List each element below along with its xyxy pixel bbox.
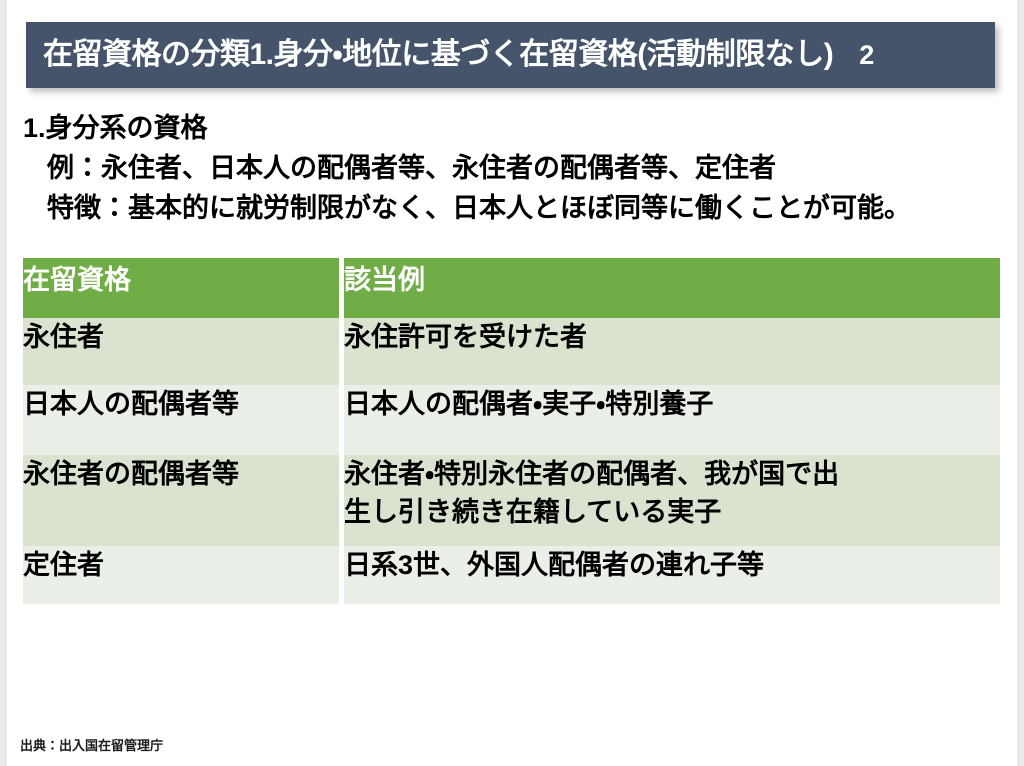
body-example-line: 例：永住者、日本人の配偶者等、永住者の配偶者等、定住者 — [21, 148, 1011, 188]
table-row: 日本人の配偶者等 日本人の配偶者・実子・特別養子 — [23, 385, 1000, 455]
table-header-row: 在留資格 該当例 — [23, 258, 1000, 318]
cell-qualification: 永住者 — [23, 318, 339, 385]
page-edge-left — [0, 0, 7, 766]
cell-examples-line: 永住許可を受けた者 — [344, 318, 1000, 356]
page-title: 在留資格の分類1.身分・地位に基づく在留資格(活動制限なし) — [43, 40, 833, 70]
slide-title-bar: 在留資格の分類1.身分・地位に基づく在留資格(活動制限なし) 2 — [26, 22, 995, 88]
cell-qualification: 永住者の配偶者等 — [23, 455, 339, 546]
body-heading: 1.身分系の資格 — [21, 108, 1011, 148]
cell-examples: 日系3世、外国人配偶者の連れ子等 — [344, 546, 1000, 604]
cell-qualification: 日本人の配偶者等 — [23, 385, 339, 455]
cell-examples-line: 生し引き続き在籍している実子 — [344, 493, 1000, 531]
body-text-block: 1.身分系の資格 例：永住者、日本人の配偶者等、永住者の配偶者等、定住者 特徴：… — [21, 108, 1011, 228]
slide-canvas: 在留資格の分類1.身分・地位に基づく在留資格(活動制限なし) 2 1.身分系の資… — [7, 0, 1017, 766]
cell-examples: 日本人の配偶者・実子・特別養子 — [344, 385, 1000, 455]
source-note: 出典：出入国在留管理庁 — [20, 735, 163, 754]
table-row: 定住者 日系3世、外国人配偶者の連れ子等 — [23, 546, 1000, 604]
body-feature-line: 特徴：基本的に就労制限がなく、日本人とほぼ同等に働くことが可能。 — [21, 188, 1011, 228]
table-header-examples: 該当例 — [344, 258, 1000, 318]
cell-examples-line: 日本人の配偶者・実子・特別養子 — [344, 385, 1000, 423]
qualification-table: 在留資格 該当例 永住者 永住許可を受けた者 日本人の配偶者等 日本人の配偶者・… — [23, 258, 1000, 604]
table-row: 永住者 永住許可を受けた者 — [23, 318, 1000, 385]
table-header-qualification: 在留資格 — [23, 258, 339, 318]
cell-qualification: 定住者 — [23, 546, 339, 604]
table-row: 永住者の配偶者等 永住者・特別永住者の配偶者、我が国で出 生し引き続き在籍してい… — [23, 455, 1000, 546]
cell-examples-line: 永住者・特別永住者の配偶者、我が国で出 — [344, 455, 1000, 493]
cell-examples: 永住許可を受けた者 — [344, 318, 1000, 385]
cell-examples: 永住者・特別永住者の配偶者、我が国で出 生し引き続き在籍している実子 — [344, 455, 1000, 546]
cell-examples-line: 日系3世、外国人配偶者の連れ子等 — [344, 546, 1000, 584]
slide-page-number: 2 — [859, 42, 874, 69]
page-edge-right — [1017, 0, 1024, 766]
